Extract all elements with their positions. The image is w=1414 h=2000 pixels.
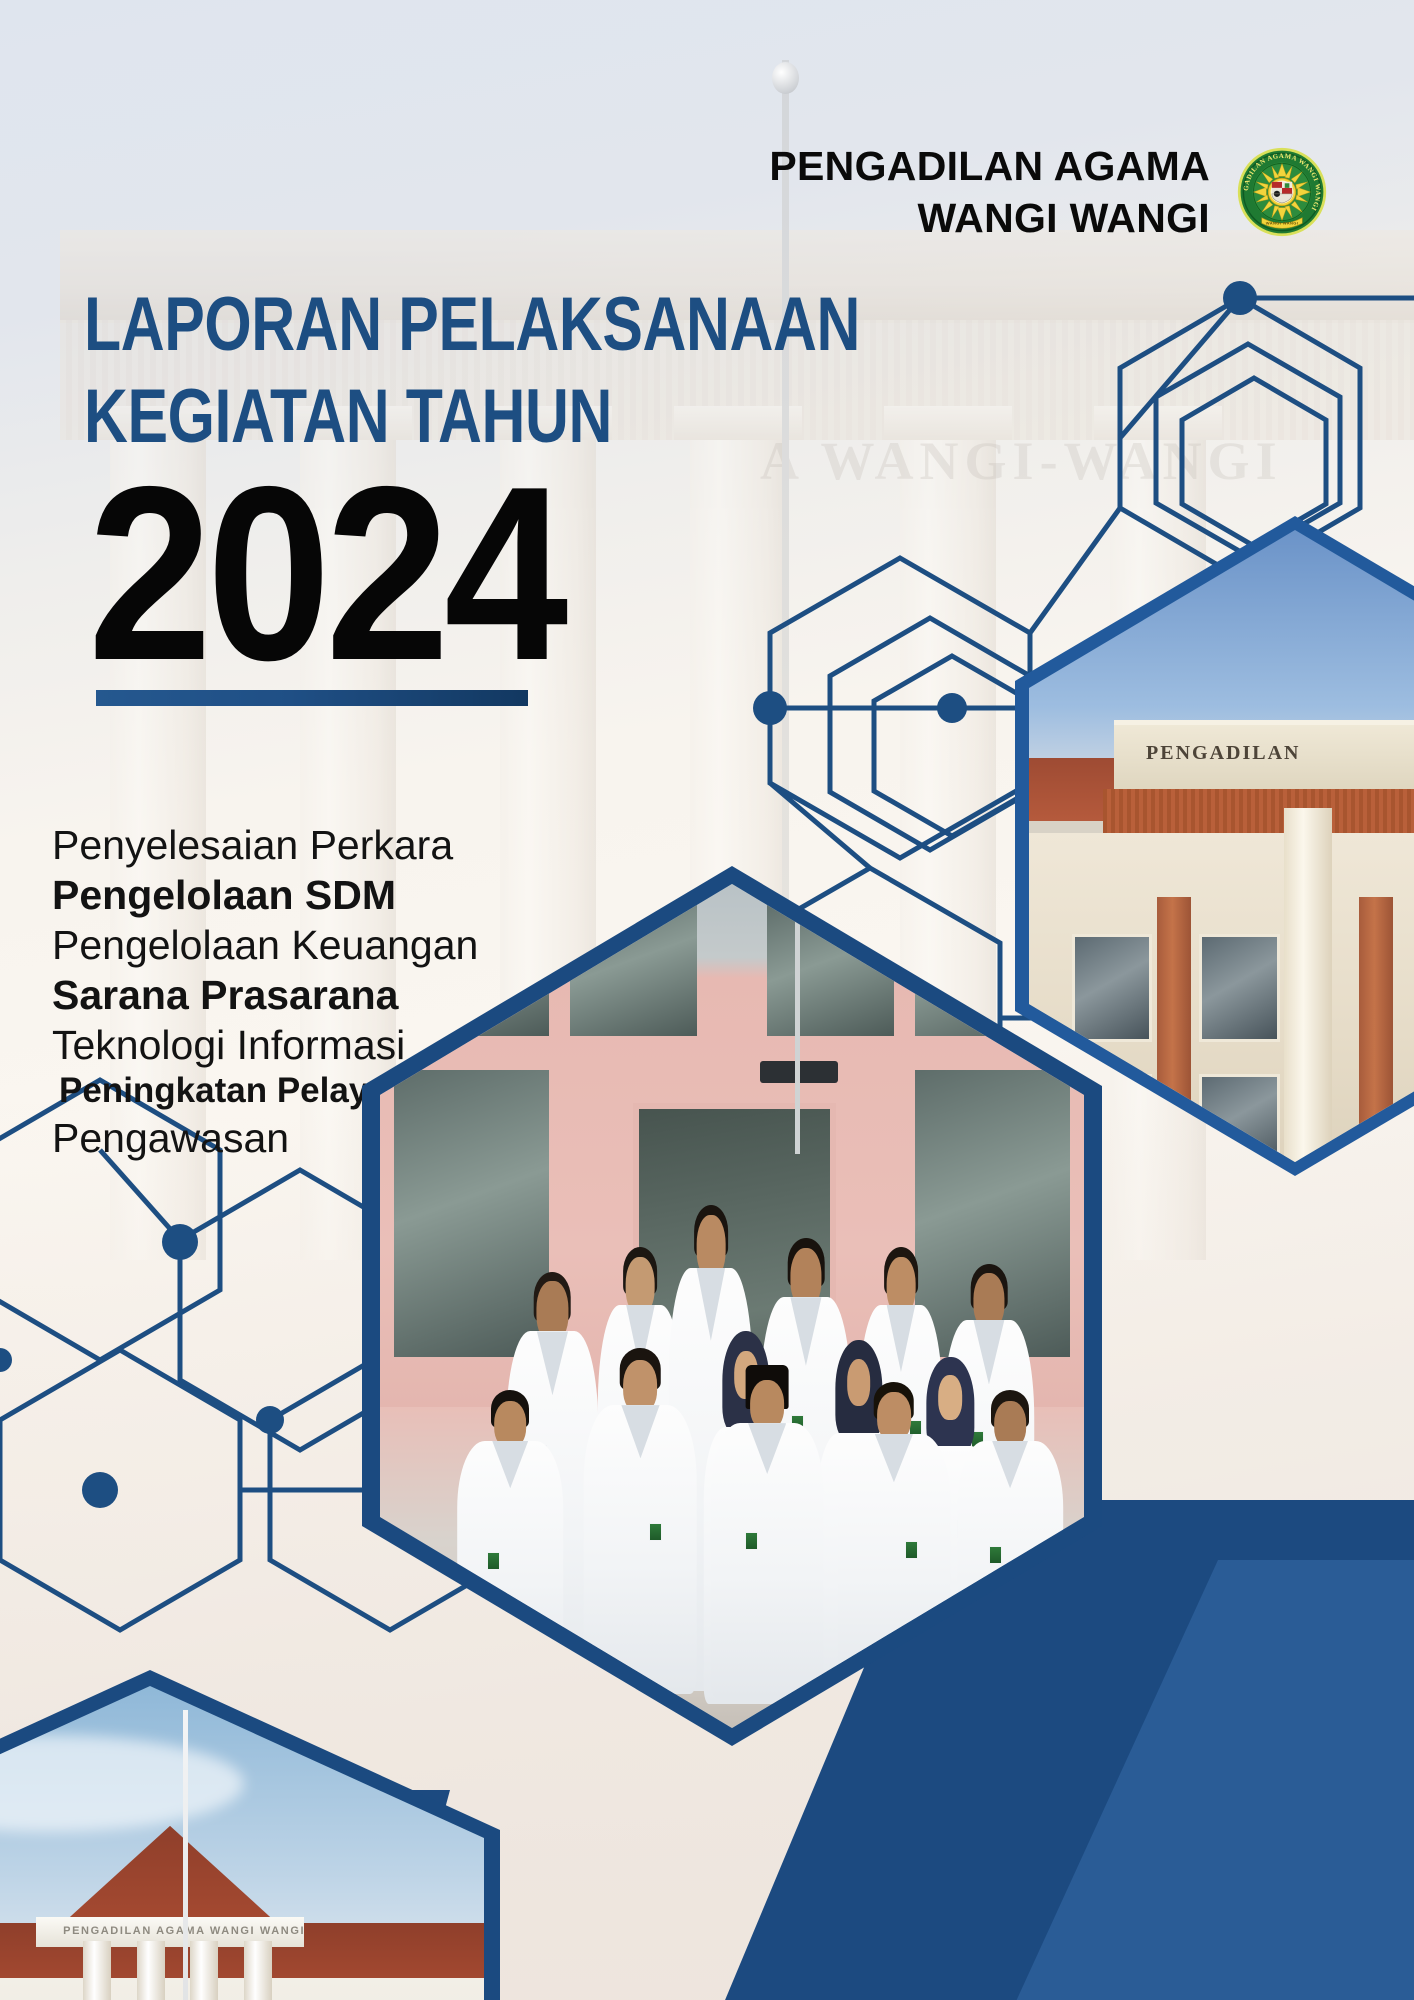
report-year: 2024	[88, 467, 957, 680]
institution-header: PENGADILAN AGAMA WANGI WANGI PENGADILAN …	[0, 140, 1414, 245]
subject-item: Penyelesaian Perkara	[52, 820, 524, 870]
eave	[1103, 789, 1414, 833]
facade-column	[1284, 808, 1332, 1162]
sky-cloud	[0, 1735, 244, 1832]
building-wall	[0, 1978, 484, 2000]
entrance-column	[137, 1941, 165, 2000]
institution-name: PENGADILAN AGAMA WANGI WANGI	[769, 140, 1210, 245]
pediment-roof	[56, 1826, 283, 1929]
staff-member	[711, 1365, 824, 1728]
subject-item: Pengelolaan Keuangan	[52, 920, 524, 970]
facade-window	[1199, 934, 1279, 1041]
title-line-1: LAPORAN PELAKSANAAN	[84, 288, 860, 362]
subject-item: Pengelolaan SDM	[52, 870, 524, 920]
entrance-column	[190, 1941, 218, 2000]
institution-name-line1: PENGADILAN AGAMA	[769, 143, 1210, 189]
facade-sign-text: PENGADILAN	[1146, 742, 1300, 765]
report-cover: A WANGI-WANGI PENGADILAN AGAMA WANGI WAN…	[0, 0, 1414, 2000]
facade-window	[1072, 934, 1152, 1041]
subject-item: Sarana Prasarana	[52, 970, 524, 1020]
institution-name-line2: WANGI WANGI	[769, 192, 1210, 244]
svg-text:WANGI WANGI: WANGI WANGI	[1266, 221, 1299, 226]
cover-title-block: LAPORAN PELAKSANAAN KEGIATAN TAHUN 2024	[84, 288, 1054, 706]
background-flagpole-finial-icon	[772, 62, 799, 94]
flagpole	[183, 1710, 188, 2000]
entrance-column	[83, 1941, 111, 2000]
entrance-column	[244, 1941, 272, 2000]
court-seal-logo-icon: PENGADILAN AGAMA WANGI WANGI	[1236, 146, 1328, 238]
